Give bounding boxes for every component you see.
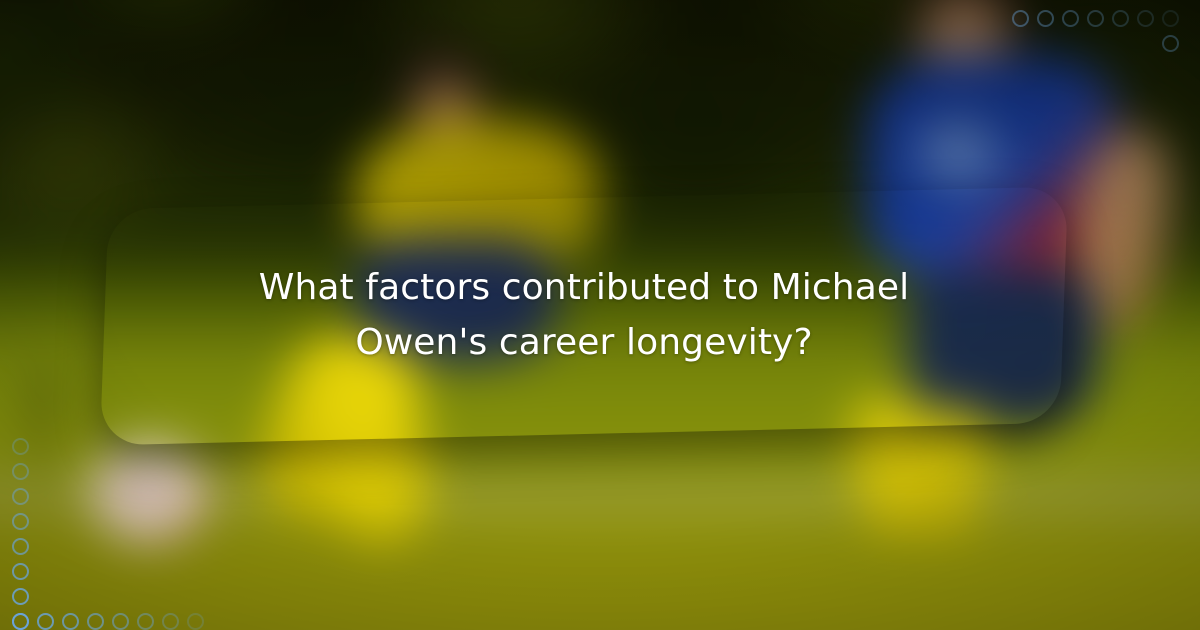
goal-post-shadow bbox=[34, 373, 53, 474]
question-card-body: What factors contributed to Michael Owen… bbox=[104, 198, 1064, 434]
question-card-graphic: What factors contributed to Michael Owen… bbox=[0, 0, 1200, 630]
soccer-ball-marking bbox=[108, 467, 165, 503]
player-blue-jersey-badge bbox=[918, 119, 999, 187]
question-card: What factors contributed to Michael Owen… bbox=[104, 198, 1064, 434]
question-text: What factors contributed to Michael Owen… bbox=[216, 261, 952, 370]
